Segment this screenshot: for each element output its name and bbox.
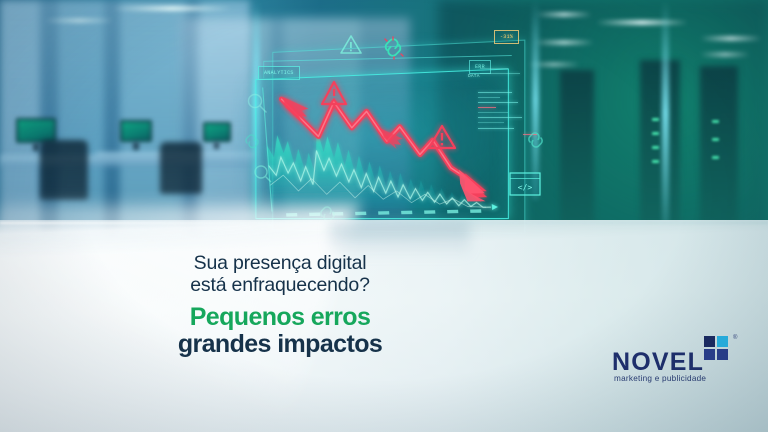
server-led bbox=[712, 156, 719, 159]
server-rack bbox=[560, 70, 594, 235]
search-icon-left bbox=[246, 92, 270, 116]
logo-square-top-left bbox=[704, 336, 715, 347]
emphasis-line-1: Pequenos erros bbox=[0, 304, 560, 331]
server-led bbox=[652, 132, 659, 135]
ceiling-light bbox=[700, 52, 750, 57]
ceiling-light bbox=[112, 6, 232, 11]
brand-logo[interactable]: ® NOVEL marketing e publicidade bbox=[612, 336, 752, 394]
banner-canvas: ANALYTICS -31% ERR DATA </> bbox=[0, 0, 768, 432]
ceiling-light bbox=[596, 20, 688, 25]
hologram-badge-right: ERR bbox=[469, 60, 491, 74]
hologram-code-line bbox=[478, 112, 508, 113]
background-chair bbox=[40, 140, 88, 200]
ceiling-light-vertical bbox=[662, 0, 669, 226]
broken-link-icon-top bbox=[382, 36, 408, 60]
hologram-code-line bbox=[478, 117, 522, 118]
server-rack bbox=[700, 66, 738, 236]
trademark-symbol: ® bbox=[733, 335, 737, 341]
broken-link-icon-right bbox=[526, 130, 550, 152]
headline-line-2: está enfraquecendo? bbox=[0, 274, 560, 296]
server-led bbox=[712, 138, 719, 141]
server-led bbox=[652, 118, 659, 121]
hologram-code-line bbox=[478, 122, 504, 123]
hologram-badge-top: -31% bbox=[494, 30, 519, 44]
server-rack bbox=[640, 60, 680, 235]
hologram-code-line bbox=[478, 92, 512, 93]
hologram-code-line bbox=[478, 97, 500, 98]
background-monitor-stand bbox=[33, 143, 39, 151]
logo-wordmark: NOVEL bbox=[612, 348, 704, 377]
emphasis-line-2: grandes impactos bbox=[0, 331, 560, 358]
background-monitor bbox=[203, 122, 231, 142]
svg-text:</>: </> bbox=[518, 183, 533, 192]
server-led bbox=[712, 120, 719, 123]
hologram-panel-label: ANALYTICS bbox=[258, 66, 300, 80]
logo-squares-icon: ® bbox=[704, 336, 730, 362]
hologram-code-line-alert bbox=[478, 107, 496, 108]
ceiling-light bbox=[700, 36, 762, 41]
hologram-code-line bbox=[480, 68, 508, 69]
logo-tagline: marketing e publicidade bbox=[614, 374, 706, 383]
server-led bbox=[652, 160, 659, 163]
background-monitor bbox=[120, 120, 152, 142]
broken-link-icon-left bbox=[243, 132, 265, 152]
background-monitor-stand bbox=[133, 142, 139, 150]
warning-triangle-chart-top bbox=[322, 82, 346, 104]
hologram-code-line bbox=[478, 102, 518, 103]
background-chair bbox=[160, 142, 202, 194]
hologram-status-label: DATA bbox=[468, 74, 480, 79]
logo-square-bottom-right bbox=[717, 349, 728, 360]
hologram-code-line bbox=[480, 73, 520, 74]
hologram-code-line bbox=[478, 128, 514, 129]
server-led bbox=[652, 146, 659, 149]
headline-block: Sua presença digital está enfraquecendo?… bbox=[0, 252, 560, 358]
warning-triangle-icon-top bbox=[340, 34, 364, 56]
logo-square-bottom-left bbox=[704, 349, 715, 360]
ceiling-light bbox=[44, 18, 114, 23]
headline-line-1: Sua presença digital bbox=[0, 252, 560, 274]
chart-axis-arrow bbox=[492, 204, 498, 210]
code-icon: </> bbox=[509, 172, 543, 198]
chart-pointer-arrow-left bbox=[283, 97, 309, 122]
ceiling-light bbox=[536, 12, 592, 17]
logo-square-top-right bbox=[717, 336, 728, 347]
ceiling-light bbox=[534, 40, 594, 45]
background-monitor-stand bbox=[214, 142, 219, 149]
